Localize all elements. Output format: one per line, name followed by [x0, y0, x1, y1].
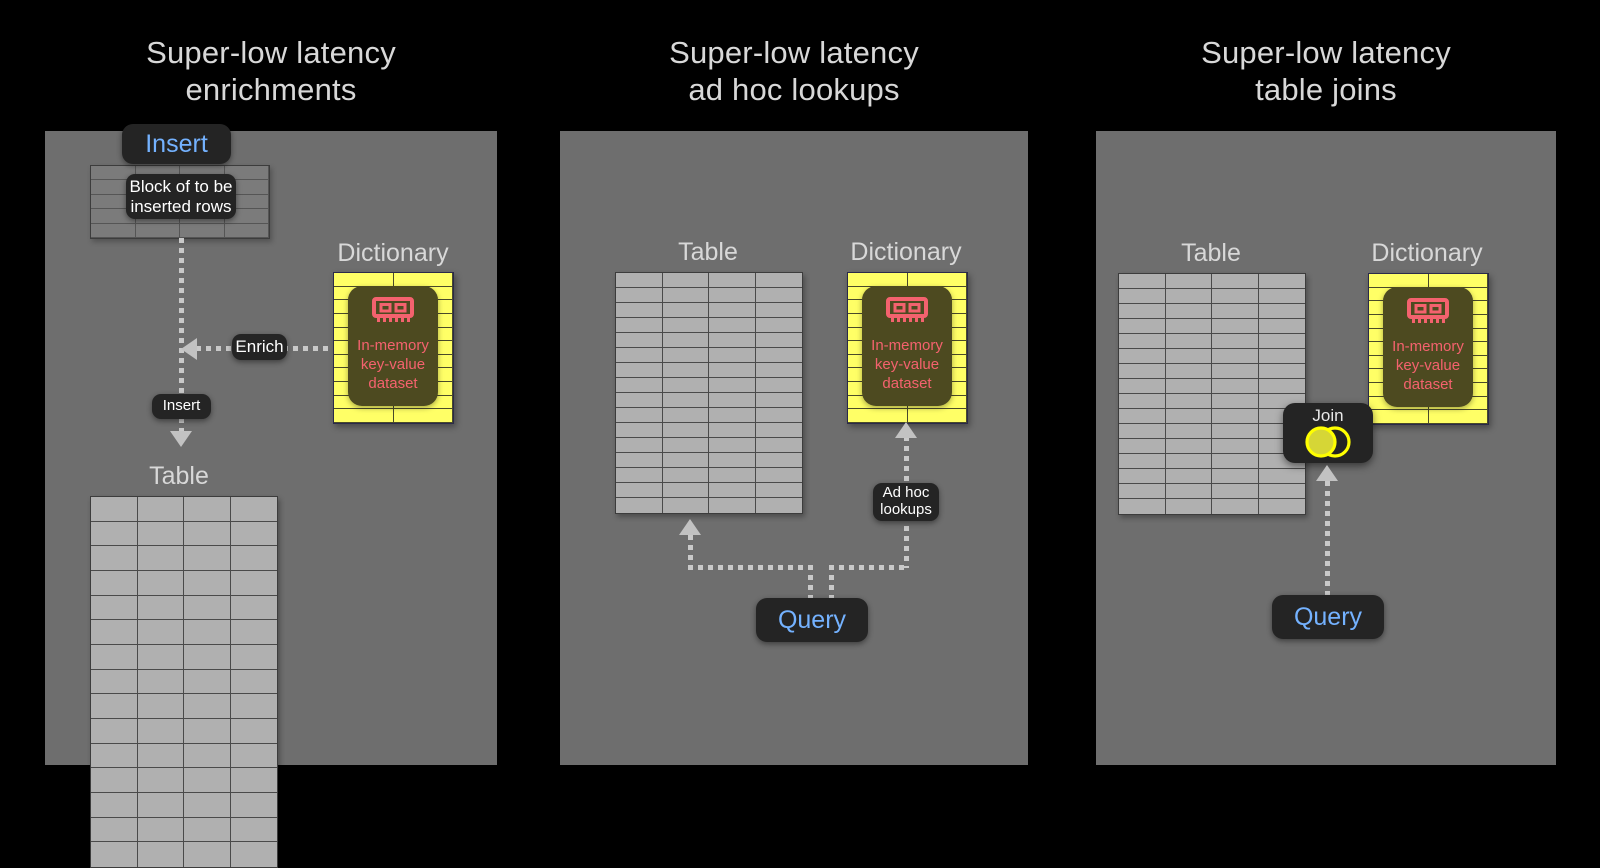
grid-cell [1259, 334, 1306, 349]
grid-cell [231, 645, 278, 670]
grid-cell [1166, 424, 1213, 439]
grid-cell [756, 393, 803, 408]
grid-cell [1212, 304, 1259, 319]
grid-cell [184, 818, 231, 843]
grid-cell [184, 842, 231, 867]
grid-cell [1119, 334, 1166, 349]
grid-cell [663, 483, 710, 498]
grid-cell [709, 468, 756, 483]
grid-cell [1119, 304, 1166, 319]
join-feed-line [1325, 481, 1330, 601]
grid-cell [756, 453, 803, 468]
grid-cell [184, 768, 231, 793]
grid-cell [184, 620, 231, 645]
grid-cell [616, 483, 663, 498]
grid-cell [663, 288, 710, 303]
grid-cell [663, 453, 710, 468]
grid-cell [91, 744, 138, 769]
grid-cell [1212, 349, 1259, 364]
grid-cell [616, 288, 663, 303]
grid-cell [756, 438, 803, 453]
grid-cell [709, 408, 756, 423]
grid-cell [616, 423, 663, 438]
grid-cell [663, 393, 710, 408]
grid-cell [1212, 484, 1259, 499]
table-feed-arrowhead [679, 519, 701, 535]
grid-cell [1166, 304, 1213, 319]
grid-cell [1119, 319, 1166, 334]
grid-cell [231, 670, 278, 695]
grid-cell [184, 793, 231, 818]
grid-cell [184, 744, 231, 769]
grid-cell [1212, 454, 1259, 469]
grid-cell [663, 363, 710, 378]
grid-cell [91, 842, 138, 867]
panel-title-ad-hoc-lookups: Super-low latency ad hoc lookups [560, 34, 1028, 108]
join-feed-arrowhead [1316, 465, 1338, 481]
venn-icon [1297, 425, 1359, 464]
grid-cell [138, 571, 185, 596]
grid-cell [1212, 499, 1259, 514]
table-label: Table [90, 462, 268, 490]
grid-cell [709, 318, 756, 333]
grid-cell [1259, 304, 1306, 319]
grid-cell [1166, 319, 1213, 334]
query-badge[interactable]: Query [1272, 595, 1384, 639]
grid-cell [616, 468, 663, 483]
grid-cell [1166, 409, 1213, 424]
grid-cell [1119, 364, 1166, 379]
grid-cell [663, 303, 710, 318]
grid-cell [908, 273, 968, 287]
grid-cell [138, 645, 185, 670]
grid-cell [1212, 469, 1259, 484]
grid-cell [1166, 394, 1213, 409]
grid-cell [91, 546, 138, 571]
grid-cell [663, 438, 710, 453]
grid-cell [1166, 364, 1213, 379]
grid-cell [616, 333, 663, 348]
grid-cell [709, 303, 756, 318]
grid-cell [91, 670, 138, 695]
table-grid [90, 496, 278, 868]
insert-top-badge[interactable]: Insert [122, 124, 231, 164]
grid-cell [1212, 379, 1259, 394]
grid-cell [184, 645, 231, 670]
in-memory-dataset-text: In-memory key-value dataset [1392, 337, 1464, 394]
grid-cell [91, 620, 138, 645]
grid-cell [663, 318, 710, 333]
grid-cell [231, 694, 278, 719]
grid-cell [1119, 484, 1166, 499]
grid-cell [91, 694, 138, 719]
grid-cell [616, 453, 663, 468]
grid-cell [231, 768, 278, 793]
grid-cell [138, 670, 185, 695]
grid-cell [1119, 454, 1166, 469]
grid-cell [663, 408, 710, 423]
grid-cell [616, 498, 663, 513]
enrich-badge[interactable]: Enrich [232, 334, 287, 360]
grid-cell [709, 423, 756, 438]
grid-cell [91, 793, 138, 818]
grid-cell [1166, 349, 1213, 364]
table-grid [1118, 273, 1306, 515]
grid-cell [1212, 319, 1259, 334]
in-memory-dataset-overlay: In-memory key-value dataset [862, 286, 952, 406]
grid-cell [1212, 274, 1259, 289]
grid-cell [184, 719, 231, 744]
grid-cell [908, 409, 968, 423]
grid-cell [756, 423, 803, 438]
grid-cell [1166, 289, 1213, 304]
grid-cell [616, 318, 663, 333]
grid-cell [231, 793, 278, 818]
grid-cell [756, 363, 803, 378]
grid-cell [1259, 469, 1306, 484]
dictionary-label: Dictionary [847, 238, 965, 266]
grid-cell [616, 408, 663, 423]
grid-cell [225, 224, 270, 238]
grid-cell [1259, 274, 1306, 289]
grid-cell [709, 273, 756, 288]
table-label: Table [1118, 239, 1304, 267]
grid-cell [616, 378, 663, 393]
grid-cell [1212, 334, 1259, 349]
block-of-rows-badge[interactable]: Block of to be inserted rows [126, 174, 236, 219]
grid-cell [1259, 319, 1306, 334]
grid-cell [184, 670, 231, 695]
grid-cell [1429, 274, 1489, 288]
grid-cell [1212, 439, 1259, 454]
grid-cell [394, 409, 454, 423]
grid-cell [1166, 469, 1213, 484]
grid-cell [231, 522, 278, 547]
grid-cell [91, 645, 138, 670]
grid-cell [231, 744, 278, 769]
grid-cell [231, 620, 278, 645]
panel-enrichments: Insert Block of to be inserted rows Enri… [45, 131, 497, 765]
grid-cell [394, 273, 454, 287]
grid-cell [756, 408, 803, 423]
grid-cell [1119, 379, 1166, 394]
grid-cell [756, 483, 803, 498]
grid-cell [1166, 454, 1213, 469]
panel-table-joins: Table Dictionary [1096, 131, 1556, 765]
grid-cell [663, 378, 710, 393]
grid-cell [231, 571, 278, 596]
grid-cell [1259, 484, 1306, 499]
enrich-flow-line-right [283, 346, 335, 351]
grid-cell [1119, 289, 1166, 304]
join-badge[interactable]: Join [1283, 403, 1373, 463]
grid-cell [1119, 424, 1166, 439]
panel-title-enrichments: Super-low latency enrichments [45, 34, 497, 108]
grid-cell [184, 571, 231, 596]
grid-cell [91, 571, 138, 596]
grid-cell [1429, 410, 1489, 424]
grid-cell [756, 318, 803, 333]
grid-cell [138, 694, 185, 719]
grid-cell [138, 719, 185, 744]
grid-cell [136, 224, 181, 238]
join-badge-label: Join [1312, 406, 1343, 425]
grid-cell [1259, 289, 1306, 304]
enrich-flow-arrowhead [181, 338, 197, 360]
grid-cell [848, 273, 908, 287]
grid-cell [184, 694, 231, 719]
grid-cell [1369, 274, 1429, 288]
grid-cell [1212, 424, 1259, 439]
grid-cell [1259, 364, 1306, 379]
table-grid [615, 272, 803, 514]
grid-cell [138, 546, 185, 571]
grid-cell [616, 348, 663, 363]
grid-cell [1212, 394, 1259, 409]
grid-cell [184, 596, 231, 621]
grid-cell [231, 546, 278, 571]
grid-cell [1166, 334, 1213, 349]
grid-cell [138, 522, 185, 547]
grid-cell [709, 363, 756, 378]
grid-cell [709, 378, 756, 393]
grid-cell [184, 522, 231, 547]
grid-cell [663, 423, 710, 438]
grid-cell [1119, 274, 1166, 289]
grid-cell [1166, 274, 1213, 289]
grid-cell [709, 438, 756, 453]
grid-cell [709, 348, 756, 363]
grid-cell [756, 288, 803, 303]
grid-cell [1212, 409, 1259, 424]
grid-cell [1119, 469, 1166, 484]
grid-cell [231, 497, 278, 522]
dictionary-label: Dictionary [1368, 239, 1486, 267]
grid-cell [663, 498, 710, 513]
grid-cell [756, 468, 803, 483]
panel-ad-hoc-lookups: Table Dictionary [560, 131, 1028, 765]
in-memory-dataset-overlay: In-memory key-value dataset [348, 286, 438, 406]
grid-cell [1166, 499, 1213, 514]
grid-cell [709, 333, 756, 348]
grid-cell [91, 768, 138, 793]
grid-cell [180, 224, 225, 238]
grid-cell [663, 333, 710, 348]
grid-cell [91, 224, 136, 238]
grid-cell [1119, 499, 1166, 514]
ram-icon [886, 297, 928, 330]
grid-cell [616, 273, 663, 288]
grid-cell [709, 288, 756, 303]
grid-cell [1212, 289, 1259, 304]
grid-cell [1259, 499, 1306, 514]
table-feed-line [688, 535, 693, 567]
query-bus-right [829, 565, 909, 570]
grid-cell [1119, 394, 1166, 409]
grid-cell [616, 393, 663, 408]
dictionary-label: Dictionary [334, 239, 452, 267]
grid-cell [184, 497, 231, 522]
grid-cell [1166, 379, 1213, 394]
query-bus-left [688, 565, 810, 570]
grid-cell [1119, 439, 1166, 454]
grid-cell [616, 438, 663, 453]
grid-cell [756, 273, 803, 288]
grid-cell [334, 409, 394, 423]
grid-cell [184, 546, 231, 571]
panel-title-table-joins: Super-low latency table joins [1096, 34, 1556, 108]
insert-flow-arrowhead [170, 431, 192, 447]
grid-cell [756, 348, 803, 363]
grid-cell [663, 273, 710, 288]
grid-cell [1119, 349, 1166, 364]
grid-cell [1369, 410, 1429, 424]
grid-cell [138, 497, 185, 522]
diagram-canvas: Super-low latency enrichments Insert Blo… [0, 0, 1600, 838]
insert-bottom-badge[interactable]: Insert [152, 394, 211, 419]
grid-cell [1166, 484, 1213, 499]
grid-cell [663, 468, 710, 483]
dictionary-feed-arrowhead [895, 422, 917, 438]
grid-cell [91, 719, 138, 744]
grid-cell [231, 818, 278, 843]
grid-cell [709, 498, 756, 513]
grid-cell [91, 522, 138, 547]
in-memory-dataset-text: In-memory key-value dataset [871, 336, 943, 393]
grid-cell [231, 842, 278, 867]
grid-cell [138, 620, 185, 645]
grid-cell [138, 768, 185, 793]
query-badge[interactable]: Query [756, 598, 868, 642]
table-label: Table [615, 238, 801, 266]
ram-icon [1407, 298, 1449, 331]
grid-cell [138, 793, 185, 818]
grid-cell [756, 498, 803, 513]
grid-cell [663, 348, 710, 363]
grid-cell [709, 393, 756, 408]
grid-cell [1259, 349, 1306, 364]
grid-cell [616, 363, 663, 378]
grid-cell [756, 378, 803, 393]
grid-cell [91, 818, 138, 843]
grid-cell [616, 303, 663, 318]
grid-cell [91, 497, 138, 522]
grid-cell [709, 483, 756, 498]
grid-cell [709, 453, 756, 468]
grid-cell [231, 719, 278, 744]
grid-cell [848, 409, 908, 423]
grid-cell [1119, 409, 1166, 424]
ram-icon [372, 297, 414, 330]
in-memory-dataset-overlay: In-memory key-value dataset [1383, 287, 1473, 407]
in-memory-dataset-text: In-memory key-value dataset [357, 336, 429, 393]
grid-cell [138, 818, 185, 843]
grid-cell [91, 596, 138, 621]
grid-cell [756, 333, 803, 348]
grid-cell [138, 744, 185, 769]
ad-hoc-lookups-badge[interactable]: Ad hoc lookups [873, 483, 939, 521]
grid-cell [231, 596, 278, 621]
grid-cell [334, 273, 394, 287]
grid-cell [138, 842, 185, 867]
grid-cell [138, 596, 185, 621]
grid-cell [1166, 439, 1213, 454]
grid-cell [756, 303, 803, 318]
grid-cell [1259, 379, 1306, 394]
grid-cell [1212, 364, 1259, 379]
